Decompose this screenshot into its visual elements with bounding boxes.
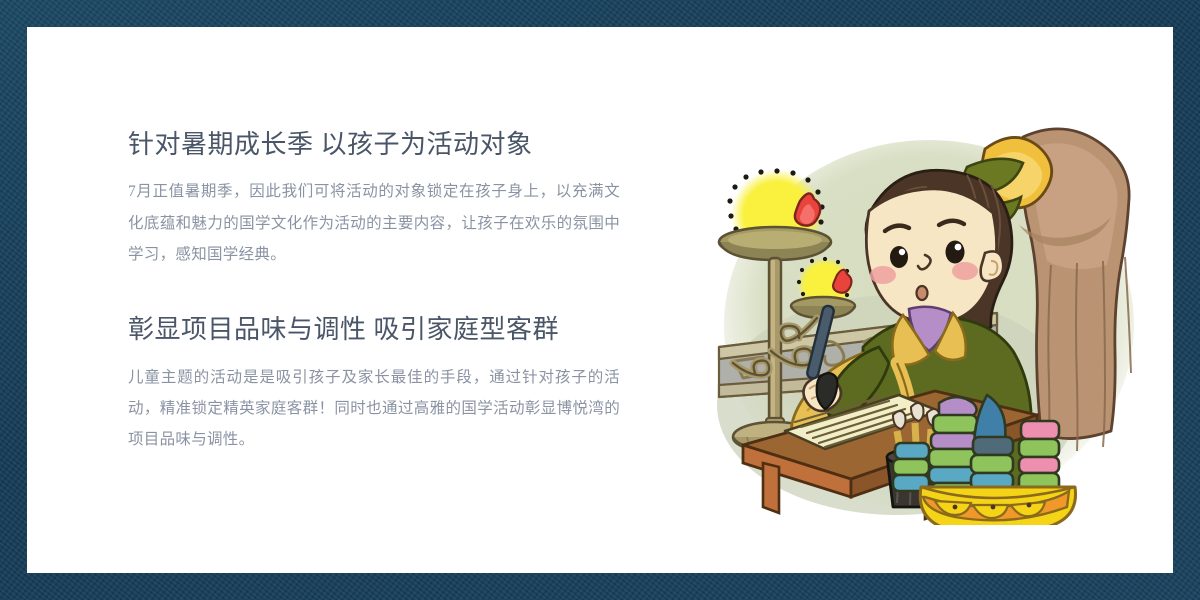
illustration-chinese-child-calligraphy — [667, 115, 1187, 525]
slide-canvas: 针对暑期成长季 以孩子为活动对象 7月正值暑期季，因此我们可将活动的对象锁定在孩… — [27, 27, 1173, 573]
content-block-1: 针对暑期成长季 以孩子为活动对象 7月正值暑期季，因此我们可将活动的对象锁定在孩… — [128, 127, 628, 270]
content-block-2: 彰显项目品味与调性 吸引家庭型客群 儿童主题的活动是是吸引孩子及家长最佳的手段，… — [128, 312, 628, 455]
slide-frame: 针对暑期成长季 以孩子为活动对象 7月正值暑期季，因此我们可将活动的对象锁定在孩… — [0, 0, 1200, 600]
body-text-2: 儿童主题的活动是是吸引孩子及家长最佳的手段，通过针对孩子的活动，精准锁定精英家庭… — [128, 362, 620, 456]
headline-1: 针对暑期成长季 以孩子为活动对象 — [128, 127, 628, 162]
headline-2: 彰显项目品味与调性 吸引家庭型客群 — [128, 312, 628, 347]
text-column: 针对暑期成长季 以孩子为活动对象 7月正值暑期季，因此我们可将活动的对象锁定在孩… — [128, 127, 628, 456]
body-text-1: 7月正值暑期季，因此我们可将活动的对象锁定在孩子身上，以充满文化底蕴和魅力的国学… — [128, 176, 620, 270]
